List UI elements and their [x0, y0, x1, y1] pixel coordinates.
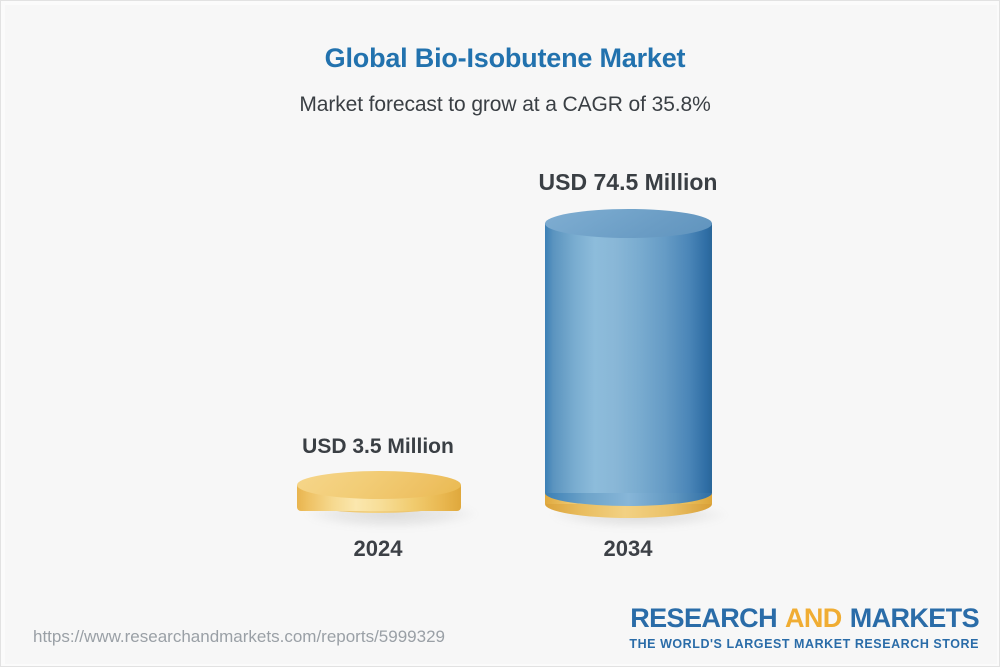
brand-logo[interactable]: RESEARCHANDMARKETS THE WORLD'S LARGEST M…: [629, 605, 979, 651]
chart-card: Global Bio-Isobutene Market Market forec…: [0, 0, 1000, 667]
bar-2024[interactable]: [297, 471, 461, 527]
bar-2034-body: [545, 223, 712, 493]
logo-word-and: AND: [785, 603, 842, 633]
logo-tagline: THE WORLD'S LARGEST MARKET RESEARCH STOR…: [629, 637, 979, 651]
value-label-2024: USD 3.5 Million: [228, 435, 528, 459]
logo-wordmark: RESEARCHANDMARKETS: [629, 605, 979, 632]
logo-word-markets: MARKETS: [850, 603, 979, 633]
bar-2034-top-cap: [545, 209, 712, 238]
logo-word-research: RESEARCH: [630, 603, 777, 633]
bar-2034[interactable]: [545, 209, 712, 527]
plot-area: USD 74.5 Million USD 3.5 Million 2024: [5, 5, 1000, 667]
chart-canvas: Global Bio-Isobutene Market Market forec…: [5, 5, 997, 664]
bar-2024-top-cap: [297, 471, 461, 499]
value-label-2034: USD 74.5 Million: [478, 169, 778, 196]
report-url[interactable]: https://www.researchandmarkets.com/repor…: [33, 627, 445, 647]
category-label-2034: 2034: [478, 536, 778, 562]
